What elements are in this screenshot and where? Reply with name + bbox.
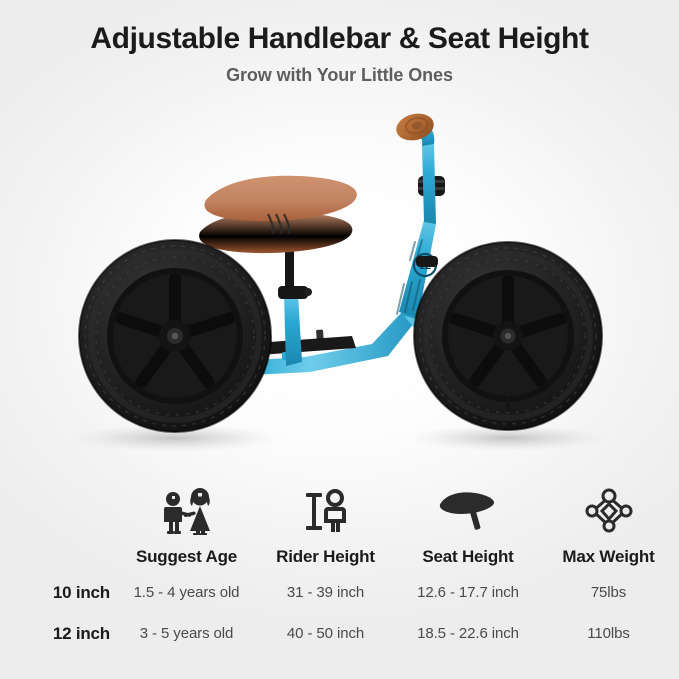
column-header-seat-height: Seat Height <box>398 547 538 567</box>
spec-header-row: Suggest Age Rider Height Seat Height Max… <box>0 542 679 572</box>
page-title: Adjustable Handlebar & Seat Height <box>0 22 679 55</box>
rider-height-ruler-icon <box>253 487 398 535</box>
cell-rider-height: 31 - 39 inch <box>253 584 398 601</box>
cell-max-weight: 75lbs <box>538 584 679 601</box>
spec-icon-row <box>0 480 679 542</box>
spec-table: Suggest Age Rider Height Seat Height Max… <box>0 480 679 654</box>
row-label-10-inch: 10 inch <box>0 583 120 603</box>
cell-suggest-age: 3 - 5 years old <box>120 625 253 642</box>
header: Adjustable Handlebar & Seat Height Grow … <box>0 0 679 86</box>
row-label-12-inch: 12 inch <box>0 624 120 644</box>
max-weight-node-icon <box>538 487 679 535</box>
rear-wheel <box>79 240 271 432</box>
two-children-icon <box>120 487 253 535</box>
product-image: www.bikebrand.com 12 <box>0 104 679 478</box>
table-row: 12 inch 3 - 5 years old 40 - 50 inch 18.… <box>0 613 679 654</box>
seat-post-clamp <box>278 286 312 299</box>
handlebar-stem <box>422 144 436 224</box>
front-wheel <box>414 242 602 430</box>
bike-saddle-icon <box>398 489 538 533</box>
page-subtitle: Grow with Your Little Ones <box>0 65 679 86</box>
table-row: 10 inch 1.5 - 4 years old 31 - 39 inch 1… <box>0 572 679 613</box>
cell-max-weight: 110lbs <box>538 625 679 642</box>
seat-tube <box>284 294 302 366</box>
cell-seat-height: 12.6 - 17.7 inch <box>398 584 538 601</box>
valve-stem <box>506 396 510 410</box>
column-header-rider-height: Rider Height <box>253 547 398 567</box>
cell-rider-height: 40 - 50 inch <box>253 625 398 642</box>
seat-upper <box>204 176 356 221</box>
cell-suggest-age: 1.5 - 4 years old <box>120 584 253 601</box>
column-header-max-weight: Max Weight <box>538 547 679 567</box>
cell-seat-height: 18.5 - 22.6 inch <box>398 625 538 642</box>
product-infographic: Adjustable Handlebar & Seat Height Grow … <box>0 0 679 679</box>
fork-clamp <box>416 256 438 267</box>
column-header-suggest-age: Suggest Age <box>120 547 253 567</box>
